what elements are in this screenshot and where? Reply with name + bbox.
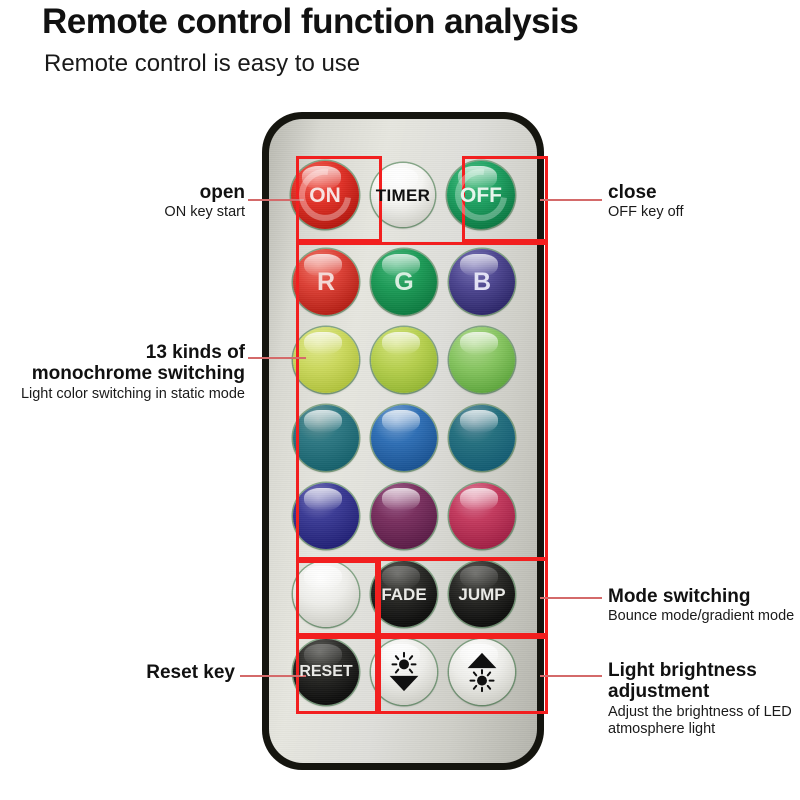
connector-line-monochrome xyxy=(248,357,306,359)
page-title: Remote control function analysis xyxy=(42,2,578,42)
callout-open-title: open xyxy=(40,182,245,203)
connector-line-brightness xyxy=(540,675,602,677)
callout-brightness-desc-line2: atmosphere light xyxy=(608,721,800,738)
callout-brightness: Light brightness adjustment Adjust the b… xyxy=(608,660,800,738)
callout-mode-desc: Bounce mode/gradient mode xyxy=(608,608,800,625)
button-jump-label: JUMP xyxy=(458,586,505,603)
connector-line-open xyxy=(248,199,304,201)
highlight-box-white xyxy=(296,560,378,636)
callout-mode-title: Mode switching xyxy=(608,586,800,607)
callout-open-desc: ON key start xyxy=(40,204,245,221)
button-label: B xyxy=(473,270,491,295)
callout-monochrome-desc: Light color switching in static mode xyxy=(0,386,245,403)
button-label: R xyxy=(317,270,335,295)
callout-monochrome: 13 kinds of monochrome switching Light c… xyxy=(0,342,245,403)
callout-brightness-title-line1: Light brightness xyxy=(608,660,800,681)
sun-down-icon xyxy=(381,649,427,695)
sun-up-icon xyxy=(459,649,505,695)
callout-close: close OFF key off xyxy=(608,182,798,222)
callout-open: open ON key start xyxy=(40,182,245,222)
button-reset-label: RESET xyxy=(299,664,352,680)
callout-monochrome-title-line1: 13 kinds of xyxy=(0,342,245,363)
callout-mode: Mode switching Bounce mode/gradient mode xyxy=(608,586,800,626)
callout-reset: Reset key xyxy=(60,662,235,683)
callout-close-desc: OFF key off xyxy=(608,204,798,221)
callout-brightness-title-line2: adjustment xyxy=(608,681,800,702)
callout-brightness-desc-line1: Adjust the brightness of LED xyxy=(608,704,800,721)
callout-close-title: close xyxy=(608,182,798,203)
button-label: G xyxy=(394,270,413,295)
button-on-label: ON xyxy=(309,185,341,206)
page-subtitle: Remote control is easy to use xyxy=(44,50,360,78)
connector-line-reset xyxy=(240,675,306,677)
connector-line-mode xyxy=(540,597,602,599)
button-fade-label: FADE xyxy=(381,586,426,603)
callout-reset-title: Reset key xyxy=(60,662,235,683)
button-off-label: OFF xyxy=(460,185,502,206)
connector-line-close xyxy=(540,199,602,201)
callout-monochrome-title-line2: monochrome switching xyxy=(0,363,245,384)
infographic-canvas: Remote control function analysis Remote … xyxy=(0,0,800,800)
button-timer-label: TIMER xyxy=(376,187,430,204)
